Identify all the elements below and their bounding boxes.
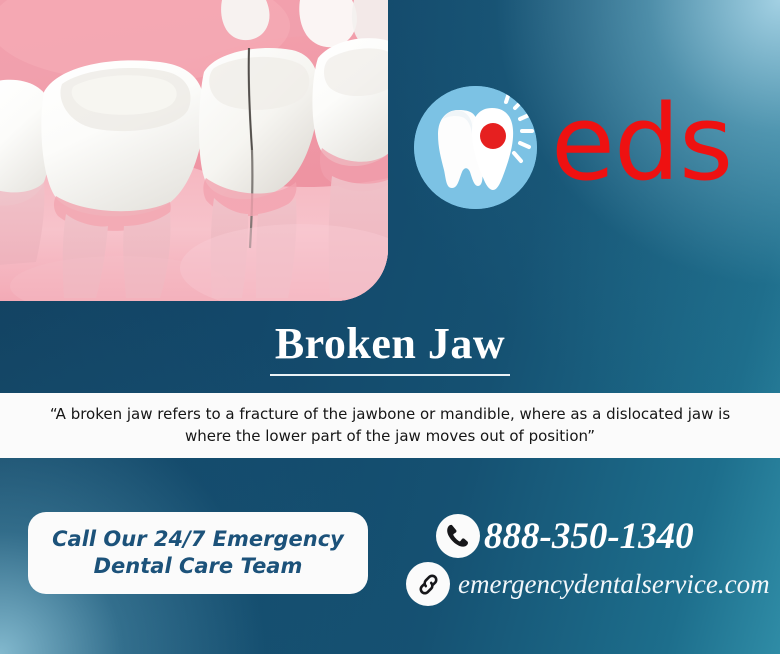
hero-dental-image [0, 0, 388, 301]
phone-handset-glyph [444, 522, 472, 550]
title-underline [270, 374, 510, 376]
page-title: Broken Jaw [0, 322, 780, 366]
website-row[interactable]: emergencydentalservice.com [406, 562, 764, 606]
chain-link-glyph [415, 571, 442, 598]
contact-block: 888-350-1340 emergencydentalservice.com [424, 514, 764, 606]
dental-illustration-graphic [0, 0, 388, 301]
quote-text: “A broken jaw refers to a fracture of th… [40, 404, 740, 447]
page-title-block: Broken Jaw [0, 322, 780, 376]
call-cta-label: Call Our 24/7 Emergency Dental Care Team [52, 526, 344, 580]
poster-canvas: eds Broken Jaw “A broken jaw refers to a… [0, 0, 780, 654]
call-cta-line-2: Dental Care Team [94, 554, 303, 578]
chain-link-icon [406, 562, 450, 606]
phone-number: 888-350-1340 [484, 515, 694, 558]
website-url: emergencydentalservice.com [458, 569, 770, 600]
tooth-location-pin-icon [414, 86, 537, 209]
phone-row[interactable]: 888-350-1340 [436, 514, 764, 558]
call-cta-line-1: Call Our 24/7 Emergency [52, 527, 344, 551]
quote-band: “A broken jaw refers to a fracture of th… [0, 393, 780, 458]
phone-handset-icon [436, 514, 480, 558]
call-cta-button[interactable]: Call Our 24/7 Emergency Dental Care Team [28, 512, 368, 594]
brand-wordmark: eds [551, 101, 732, 186]
brand-logo: eds [414, 86, 732, 209]
